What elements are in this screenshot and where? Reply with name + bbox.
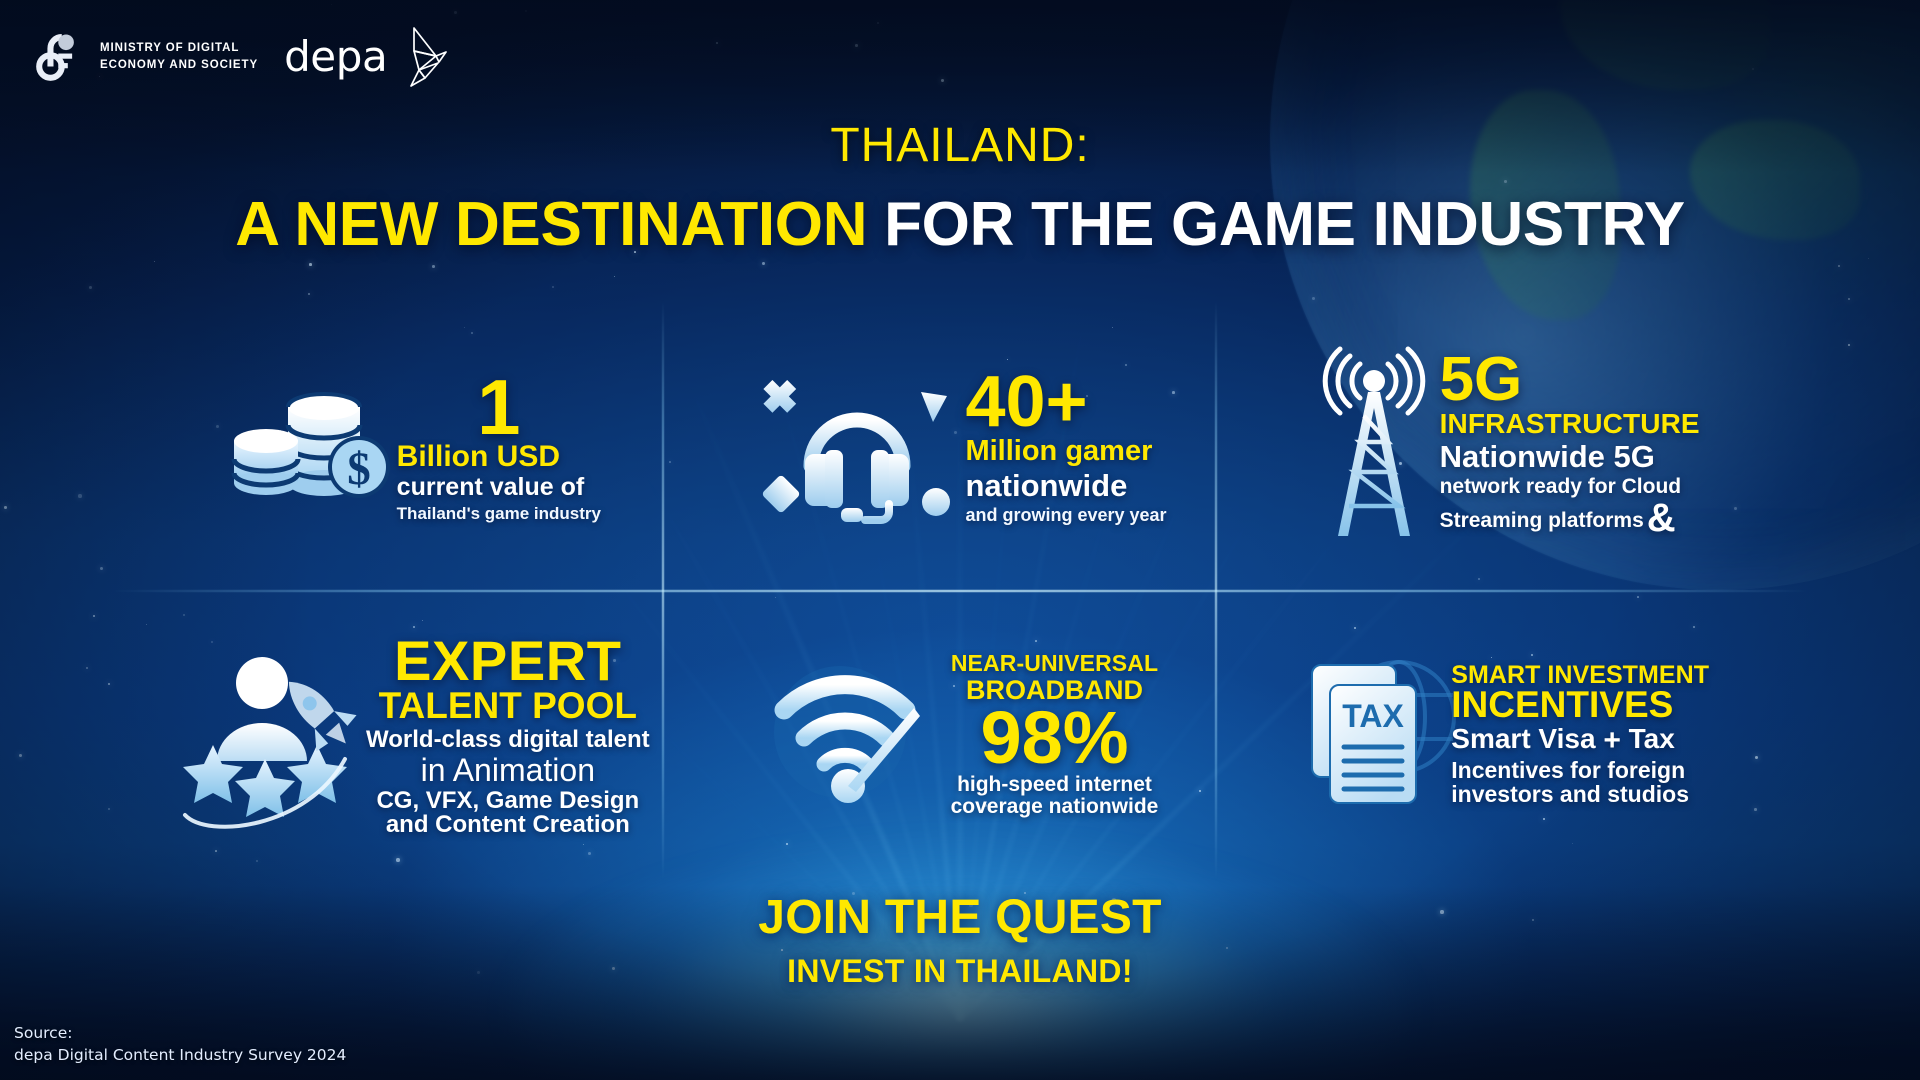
stat-line2: World-class digital talent — [366, 728, 650, 752]
stat-cell-smart-investment-incentives: TAX SMART INVESTMENT INCENTIVES Smart Vi… — [1233, 590, 1780, 880]
stat-number: EXPERT — [366, 632, 650, 689]
stat-line3: network ready for Cloud — [1440, 476, 1700, 497]
source-note: Source: depa Digital Content Industry Su… — [14, 1022, 346, 1067]
stat-cell-broadband-98: NEAR-UNIVERSAL BROADBAND 98% high-speed … — [687, 590, 1234, 880]
stat-line3: Thailand's game industry — [397, 505, 601, 522]
mdes-name-line1: MINISTRY OF DIGITAL — [100, 40, 258, 57]
header-logos: MINISTRY OF DIGITAL ECONOMY AND SOCIETY … — [34, 26, 449, 88]
stat-line3: in Animation — [366, 754, 650, 787]
wifi-speed-globe-icon — [762, 660, 937, 810]
smart-visa-text: Smart Visa — [1451, 723, 1603, 754]
stat-cell-million-gamers: 40+ Million gamer nationwide and growing… — [687, 300, 1234, 590]
stat-line4-text: Streaming platforms — [1440, 509, 1644, 532]
stat-line2: INCENTIVES — [1451, 686, 1709, 724]
svg-text:$: $ — [347, 443, 371, 495]
page-title-block: THAILAND: A NEW DESTINATION FOR THE GAME… — [0, 118, 1920, 260]
page-title: A NEW DESTINATION FOR THE GAME INDUSTRY — [0, 189, 1920, 260]
plus-glyph: + — [1603, 724, 1621, 757]
stat-line1: INFRASTRUCTURE — [1440, 410, 1700, 439]
stat-line1: NEAR-UNIVERSAL — [951, 652, 1159, 675]
stat-line3: and growing every year — [965, 506, 1166, 524]
stat-line5: investors and studios — [1451, 783, 1709, 806]
source-label: Source: — [14, 1022, 346, 1044]
stat-number: 5G — [1440, 351, 1700, 410]
cta-subline: INVEST IN THAILAND! — [0, 953, 1920, 990]
title-eyebrow: THAILAND: — [0, 118, 1920, 173]
stat-line4: Incentives for foreign — [1451, 759, 1709, 782]
title-rest: FOR THE GAME INDUSTRY — [867, 190, 1685, 259]
tax-text: Tax — [1621, 723, 1675, 754]
stat-line2: nationwide — [965, 470, 1166, 502]
source-value: depa Digital Content Industry Survey 202… — [14, 1044, 346, 1066]
mdes-name-line2: ECONOMY AND SOCIETY — [100, 57, 258, 74]
stat-line3: Smart Visa + Tax — [1451, 725, 1709, 757]
stat-line5: and Content Creation — [366, 813, 650, 837]
stat-line4: coverage nationwide — [951, 796, 1159, 817]
stat-number: 40+ — [965, 366, 1166, 439]
ampersand-glyph: & — [1647, 496, 1676, 540]
stat-line1: Million gamer — [965, 437, 1166, 467]
depa-logo: depa — [284, 26, 449, 88]
stat-cell-billion-usd: $ 1 Billion USD current value of Thailan… — [140, 300, 687, 590]
depa-wordmark: depa — [284, 36, 387, 78]
depa-origami-bird-icon — [389, 26, 449, 88]
stat-line2: Nationwide 5G — [1440, 441, 1700, 473]
stat-number: 98% — [951, 700, 1159, 775]
infographic-canvas: MINISTRY OF DIGITAL ECONOMY AND SOCIETY … — [0, 0, 1920, 1080]
stat-line1: Billion USD — [397, 442, 601, 473]
stat-line2: current value of — [397, 475, 601, 501]
tax-icon-label: TAX — [1342, 698, 1404, 734]
cta-headline: JOIN THE QUEST — [0, 890, 1920, 945]
stats-grid: $ 1 Billion USD current value of Thailan… — [140, 300, 1780, 880]
cell-tower-5g-icon — [1314, 350, 1434, 540]
stat-cell-5g-infrastructure: 5G INFRASTRUCTURE Nationwide 5G network … — [1233, 300, 1780, 590]
coins-icon: $ — [226, 385, 391, 505]
talent-rocket-stars-icon — [177, 643, 362, 828]
mdes-name: MINISTRY OF DIGITAL ECONOMY AND SOCIETY — [100, 40, 258, 73]
stat-line1: TALENT POOL — [366, 687, 650, 725]
gaming-headset-icon — [753, 370, 953, 520]
stat-line4: Streaming platforms& — [1440, 498, 1700, 539]
mdes-logo: MINISTRY OF DIGITAL ECONOMY AND SOCIETY — [34, 31, 258, 83]
tax-document-icon: TAX — [1304, 655, 1439, 815]
title-highlight: A NEW DESTINATION — [235, 190, 867, 259]
call-to-action: JOIN THE QUEST INVEST IN THAILAND! — [0, 890, 1920, 990]
stat-line3: high-speed internet — [951, 774, 1159, 795]
stat-line4: CG, VFX, Game Design — [366, 789, 650, 813]
mdes-emblem-icon — [34, 31, 86, 83]
stat-cell-expert-talent-pool: EXPERT TALENT POOL World-class digital t… — [140, 590, 687, 880]
stat-number: 1 — [397, 368, 601, 448]
